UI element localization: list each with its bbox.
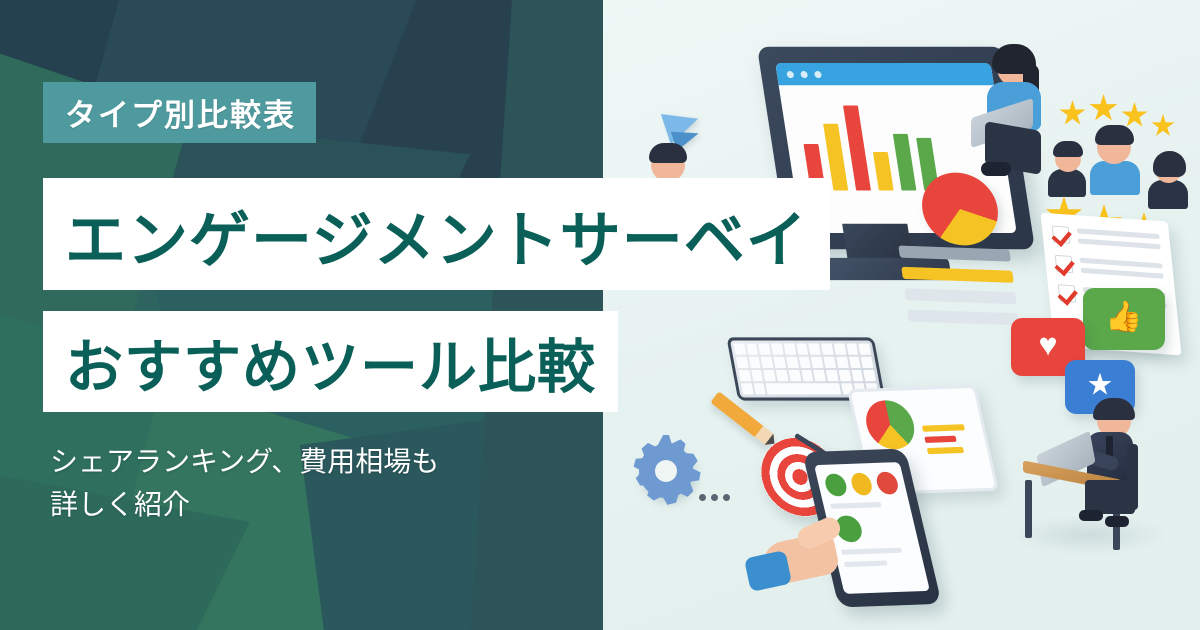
tapping-hand-icon — [763, 510, 873, 586]
heart-icon: ♥ — [1039, 326, 1058, 363]
browser-chrome-bar — [775, 63, 994, 85]
star-icon — [1059, 100, 1086, 127]
businessman-at-desk — [1001, 396, 1181, 556]
monitor-pie-chart — [923, 172, 997, 246]
category-badge: タイプ別比較表 — [43, 82, 316, 143]
happy-face-icon — [823, 473, 848, 496]
sad-face-icon — [875, 472, 900, 495]
checkbox-checked-icon — [1058, 284, 1077, 302]
tablet-pie-chart — [861, 399, 919, 450]
page-title-line-1: エンゲージメントサーベイ — [43, 178, 830, 290]
neutral-face-icon — [849, 472, 874, 495]
star-icon — [1089, 94, 1118, 123]
window-dot — [786, 71, 794, 78]
monitor-list-rows — [898, 245, 1019, 325]
checklist-row — [1055, 255, 1164, 280]
hero-banner: 👍 ♥ ★ — [0, 0, 1200, 630]
avatar — [1055, 146, 1086, 197]
checkbox-checked-icon — [1055, 255, 1074, 273]
thumbs-up-icon: 👍 — [1105, 299, 1142, 334]
subtitle-line-2: 詳しく紹介 — [50, 483, 590, 526]
rating-faces — [823, 472, 900, 497]
paper-plane-icon — [665, 108, 699, 140]
star-icon — [1151, 114, 1175, 138]
gear-icon — [639, 444, 693, 498]
pencil-icon — [707, 412, 779, 426]
page-title-line-2: おすすめツール比較 — [43, 311, 618, 412]
avatar — [1097, 130, 1140, 195]
window-dot — [814, 71, 822, 78]
star-icon — [1121, 102, 1148, 129]
subtitle: シェアランキング、費用相場も 詳しく紹介 — [50, 440, 590, 527]
checkbox-checked-icon — [1052, 225, 1071, 243]
chat-ellipsis-icon — [699, 494, 730, 501]
window-dot — [800, 71, 808, 78]
checklist-row — [1052, 225, 1161, 250]
thumbs-up-bubble: 👍 — [1083, 288, 1165, 350]
subtitle-line-1: シェアランキング、費用相場も — [50, 440, 590, 483]
illustration-panel: 👍 ♥ ★ — [603, 0, 1200, 630]
tablet-bar-rows — [916, 397, 985, 480]
